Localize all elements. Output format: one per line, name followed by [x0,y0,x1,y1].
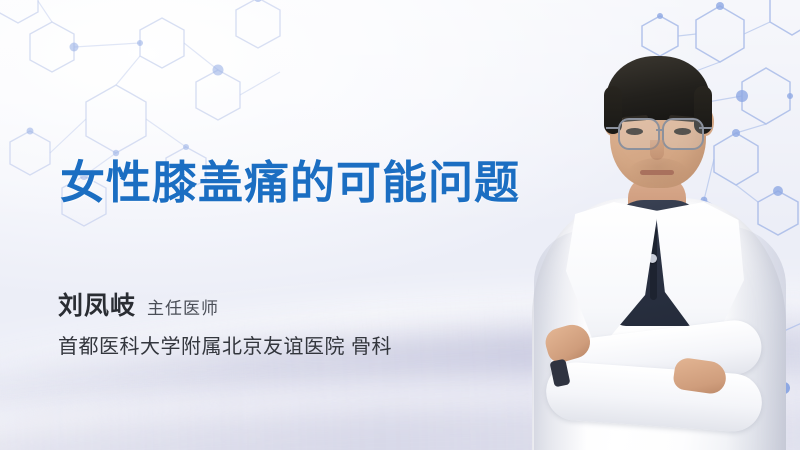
hexagon-network-top-left [0,0,320,282]
presenter-rank: 主任医师 [147,294,219,319]
nose [650,140,664,160]
mouth [640,170,674,175]
presenter-affiliation: 首都医科大学附属北京友谊医院 骨科 [58,330,392,359]
glasses-temple-right [699,127,712,129]
page-title: 女性膝盖痛的可能问题 [60,146,520,211]
slide-canvas: 女性膝盖痛的可能问题 刘凤岐 主任医师 首都医科大学附属北京友谊医院 骨科 [0,0,800,450]
presenter-credit: 刘凤岐 主任医师 首都医科大学附属北京友谊医院 骨科 [58,286,392,359]
presenter-name-row: 刘凤岐 主任医师 [58,286,392,322]
lens-right [662,118,704,150]
doctor-portrait [524,30,794,450]
glasses-temple-left [606,127,619,129]
glasses-bridge [656,129,664,131]
presenter-name: 刘凤岐 [58,286,136,322]
